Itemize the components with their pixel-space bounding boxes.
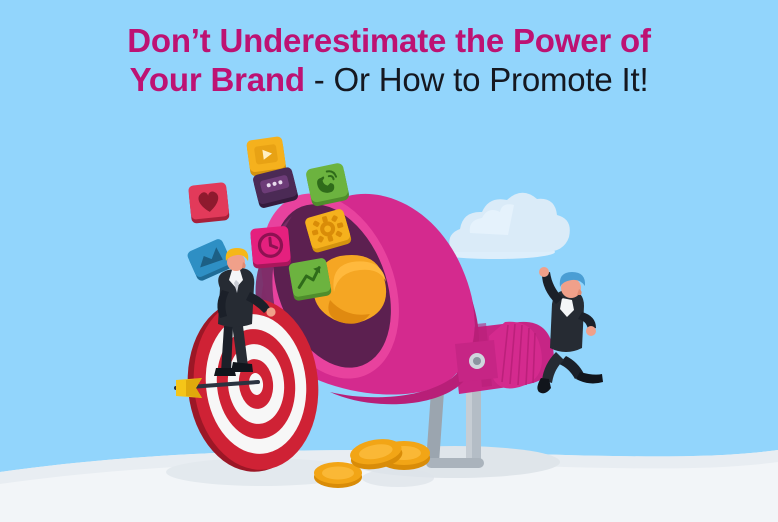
promo-banner: Don’t Underestimate the Power of Your Br…: [0, 0, 778, 522]
heart-icon: [188, 182, 230, 224]
page-title: Don’t Underestimate the Power of Your Br…: [0, 22, 778, 100]
headline-highlight-2: Your Brand: [130, 61, 305, 98]
headline-rest: - Or How to Promote It!: [305, 61, 649, 98]
chart-icon: [288, 257, 332, 301]
clock-icon: [250, 226, 291, 269]
headline-line-1: Don’t Underestimate the Power of: [0, 22, 778, 61]
headline-highlight-1: Don’t Underestimate the Power of: [127, 22, 651, 59]
megaphone-pivot: [455, 340, 498, 382]
headline-line-2: Your Brand - Or How to Promote It!: [0, 61, 778, 100]
phone-icon: [305, 162, 350, 207]
